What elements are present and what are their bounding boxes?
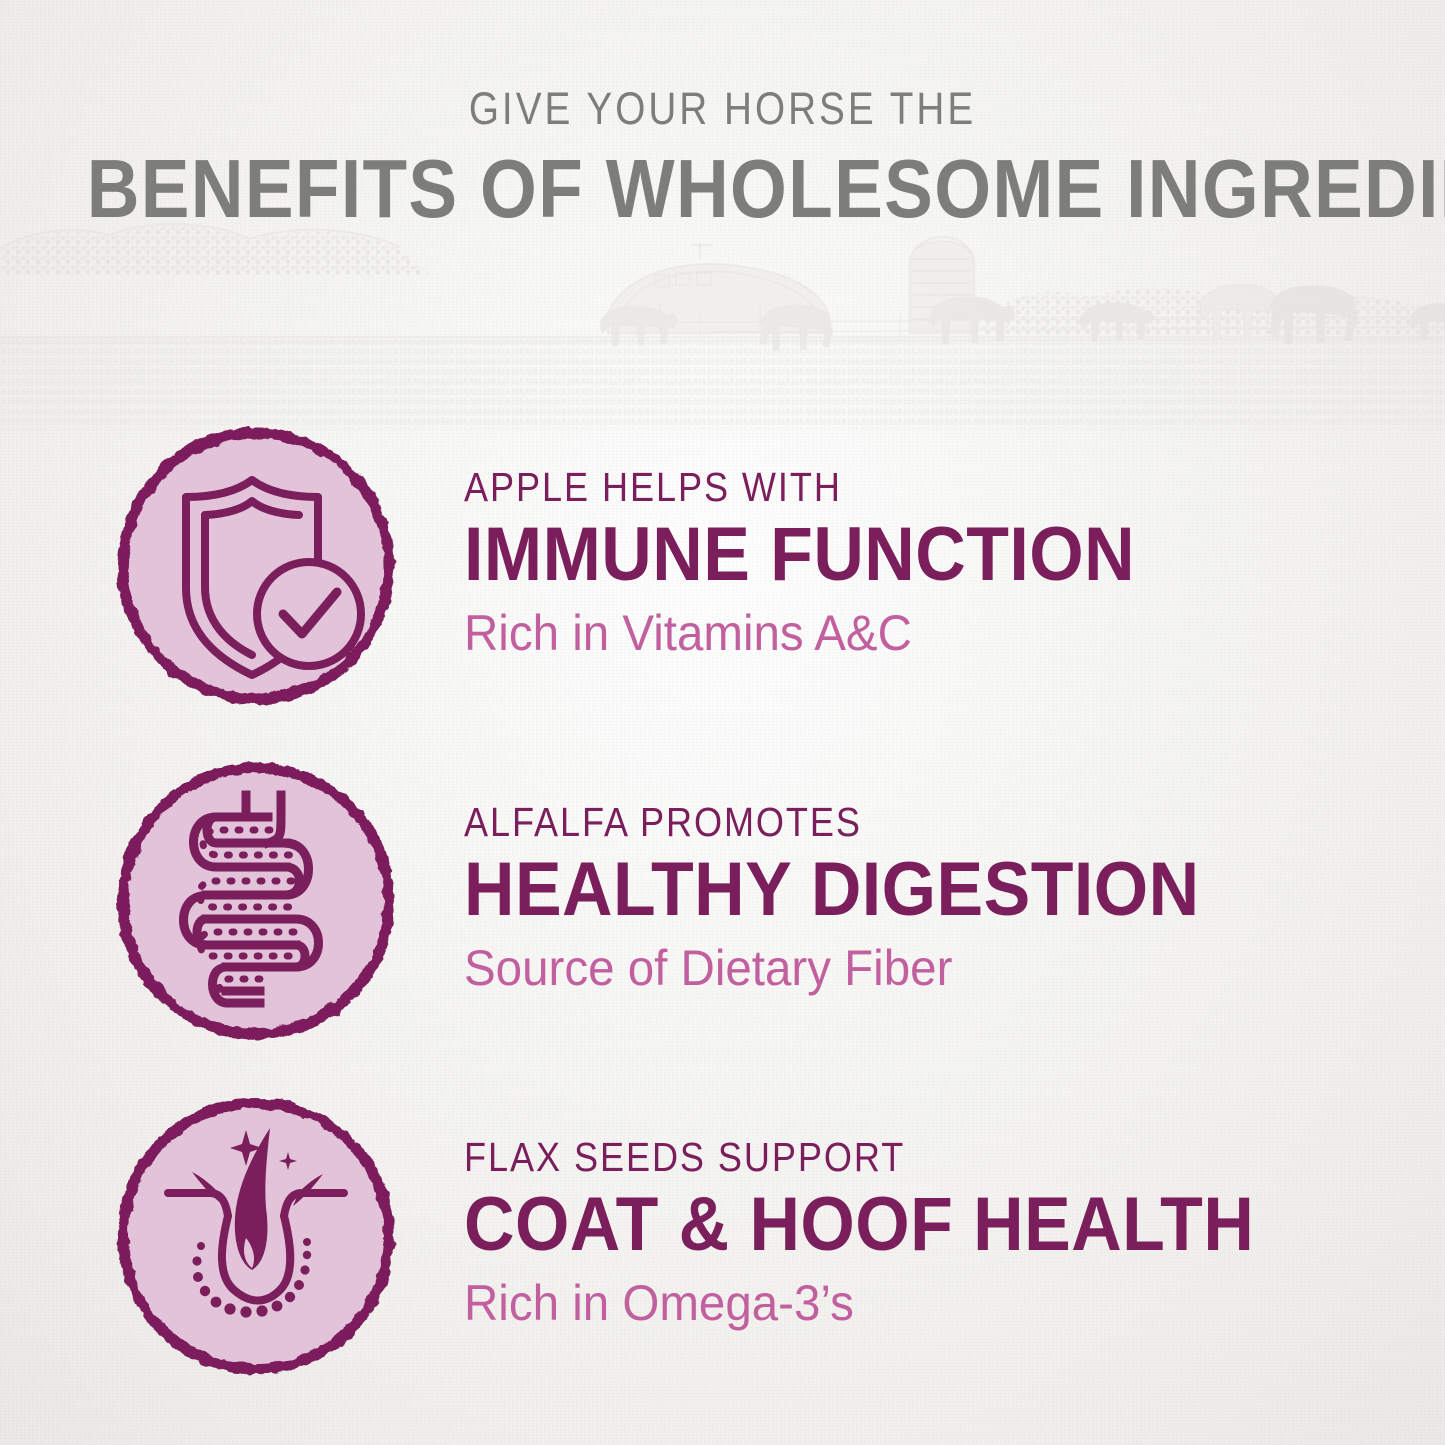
benefit-text-block: FLAX SEEDS SUPPORT COAT & HOOF HEALTH Ri… <box>464 1136 1445 1336</box>
page-title: BENEFITS OF WHOLESOME INGREDIENTS <box>87 147 1359 232</box>
header-eyebrow: GIVE YOUR HORSE THE <box>101 86 1344 131</box>
benefit-subtitle: Source of Dietary Fiber <box>464 941 1396 996</box>
benefits-poster: GIVE YOUR HORSE THE BENEFITS OF WHOLESOM… <box>0 0 1445 1445</box>
poster-header: GIVE YOUR HORSE THE BENEFITS OF WHOLESOM… <box>0 0 1445 232</box>
benefit-row: FLAX SEEDS SUPPORT COAT & HOOF HEALTH Ri… <box>0 1068 1445 1403</box>
benefit-title: HEALTHY DIGESTION <box>464 850 1367 930</box>
benefit-text-block: ALFALFA PROMOTES HEALTHY DIGESTION Sourc… <box>464 801 1445 1001</box>
hair-follicle-icon <box>110 1090 402 1382</box>
benefits-list: APPLE HELPS WITH IMMUNE FUNCTION Rich in… <box>0 398 1445 1403</box>
benefit-subtitle: Rich in Omega-3’s <box>464 1276 1396 1331</box>
benefit-eyebrow: FLAX SEEDS SUPPORT <box>464 1136 1327 1179</box>
benefit-badge-coat-hoof <box>110 1090 402 1382</box>
benefit-title: IMMUNE FUNCTION <box>464 515 1367 595</box>
benefit-row: ALFALFA PROMOTES HEALTHY DIGESTION Sourc… <box>0 733 1445 1068</box>
benefit-eyebrow: ALFALFA PROMOTES <box>464 801 1327 844</box>
benefit-row: APPLE HELPS WITH IMMUNE FUNCTION Rich in… <box>0 398 1445 733</box>
shield-check-icon <box>110 420 402 712</box>
benefit-badge-digestion <box>110 755 402 1047</box>
intestine-icon <box>110 755 402 1047</box>
benefit-text-block: APPLE HELPS WITH IMMUNE FUNCTION Rich in… <box>464 466 1445 666</box>
benefit-badge-immune <box>110 420 402 712</box>
benefit-title: COAT & HOOF HEALTH <box>464 1185 1367 1265</box>
benefit-subtitle: Rich in Vitamins A&C <box>464 606 1396 661</box>
benefit-eyebrow: APPLE HELPS WITH <box>464 466 1327 509</box>
